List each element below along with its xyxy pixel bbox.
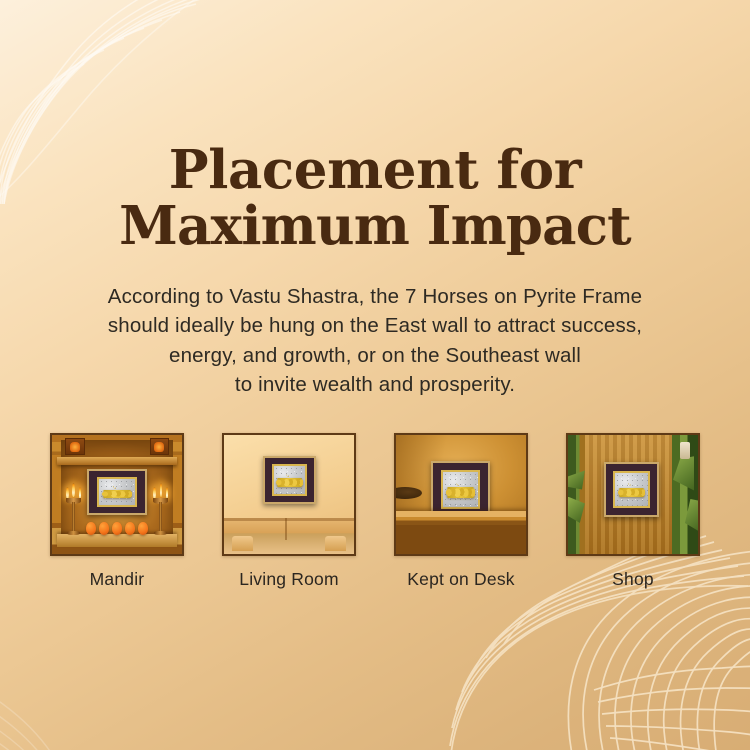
mandir-scene bbox=[52, 435, 182, 554]
desk-thumbnail[interactable] bbox=[394, 433, 528, 556]
artwork-stone-mat bbox=[613, 471, 649, 508]
sofa-cushion-left bbox=[232, 536, 253, 551]
shop-thumbnail[interactable] bbox=[566, 433, 700, 556]
sun-motif-icon bbox=[628, 481, 635, 486]
shop-plant-leaf bbox=[671, 456, 694, 492]
poster-content: Placement for Maximum Impact According t… bbox=[0, 0, 750, 750]
shop-shelf-object bbox=[680, 442, 690, 459]
living-room-scene bbox=[224, 435, 354, 554]
page-title-line-2: Maximum Impact bbox=[55, 198, 695, 254]
shop-plant-leaf bbox=[568, 497, 585, 523]
shop-plant-leaf bbox=[566, 470, 585, 489]
pyrite-frame-artwork bbox=[263, 456, 316, 504]
living-room-thumbnail[interactable] bbox=[222, 433, 356, 556]
placement-item-shop[interactable]: Shop bbox=[566, 433, 700, 590]
artwork-stone-mat bbox=[272, 464, 308, 495]
placement-caption: Shop bbox=[612, 569, 654, 590]
shop-scene bbox=[568, 435, 698, 554]
artwork-stone-mat bbox=[441, 470, 480, 508]
desk-scene bbox=[396, 435, 526, 554]
seven-horses-motif-icon bbox=[618, 488, 645, 498]
sun-motif-icon bbox=[286, 473, 293, 477]
desk-surface bbox=[394, 511, 528, 554]
seven-horses-motif-icon bbox=[276, 478, 302, 486]
pyrite-frame-artwork bbox=[604, 462, 659, 517]
sun-motif-icon bbox=[113, 485, 121, 489]
placement-item-desk[interactable]: Kept on Desk bbox=[394, 433, 528, 590]
description-line-2: should ideally be hung on the East wall … bbox=[47, 311, 703, 340]
placement-item-mandir[interactable]: Mandir bbox=[50, 433, 184, 590]
placement-caption: Living Room bbox=[239, 569, 338, 590]
description-line-1: According to Vastu Shastra, the 7 Horses… bbox=[47, 282, 703, 311]
mandir-thumbnail[interactable] bbox=[50, 433, 184, 556]
placement-gallery: Mandir Living Room bbox=[0, 433, 750, 590]
placement-caption: Kept on Desk bbox=[407, 569, 514, 590]
seven-horses-motif-icon bbox=[102, 490, 132, 498]
sun-motif-icon bbox=[456, 481, 464, 486]
shop-plant-leaf bbox=[682, 499, 700, 532]
sofa-cushion-right bbox=[325, 536, 346, 551]
placement-item-living-room[interactable]: Living Room bbox=[222, 433, 356, 590]
pyrite-frame-artwork bbox=[431, 461, 490, 518]
page-title: Placement for Maximum Impact bbox=[55, 142, 695, 254]
placement-caption: Mandir bbox=[90, 569, 145, 590]
seven-horses-motif-icon bbox=[446, 487, 476, 497]
description-line-3: energy, and growth, or on the Southeast … bbox=[47, 341, 703, 370]
description-line-4: to invite wealth and prosperity. bbox=[47, 370, 703, 399]
description-paragraph: According to Vastu Shastra, the 7 Horses… bbox=[47, 282, 703, 398]
page-title-line-1: Placement for bbox=[169, 139, 581, 201]
